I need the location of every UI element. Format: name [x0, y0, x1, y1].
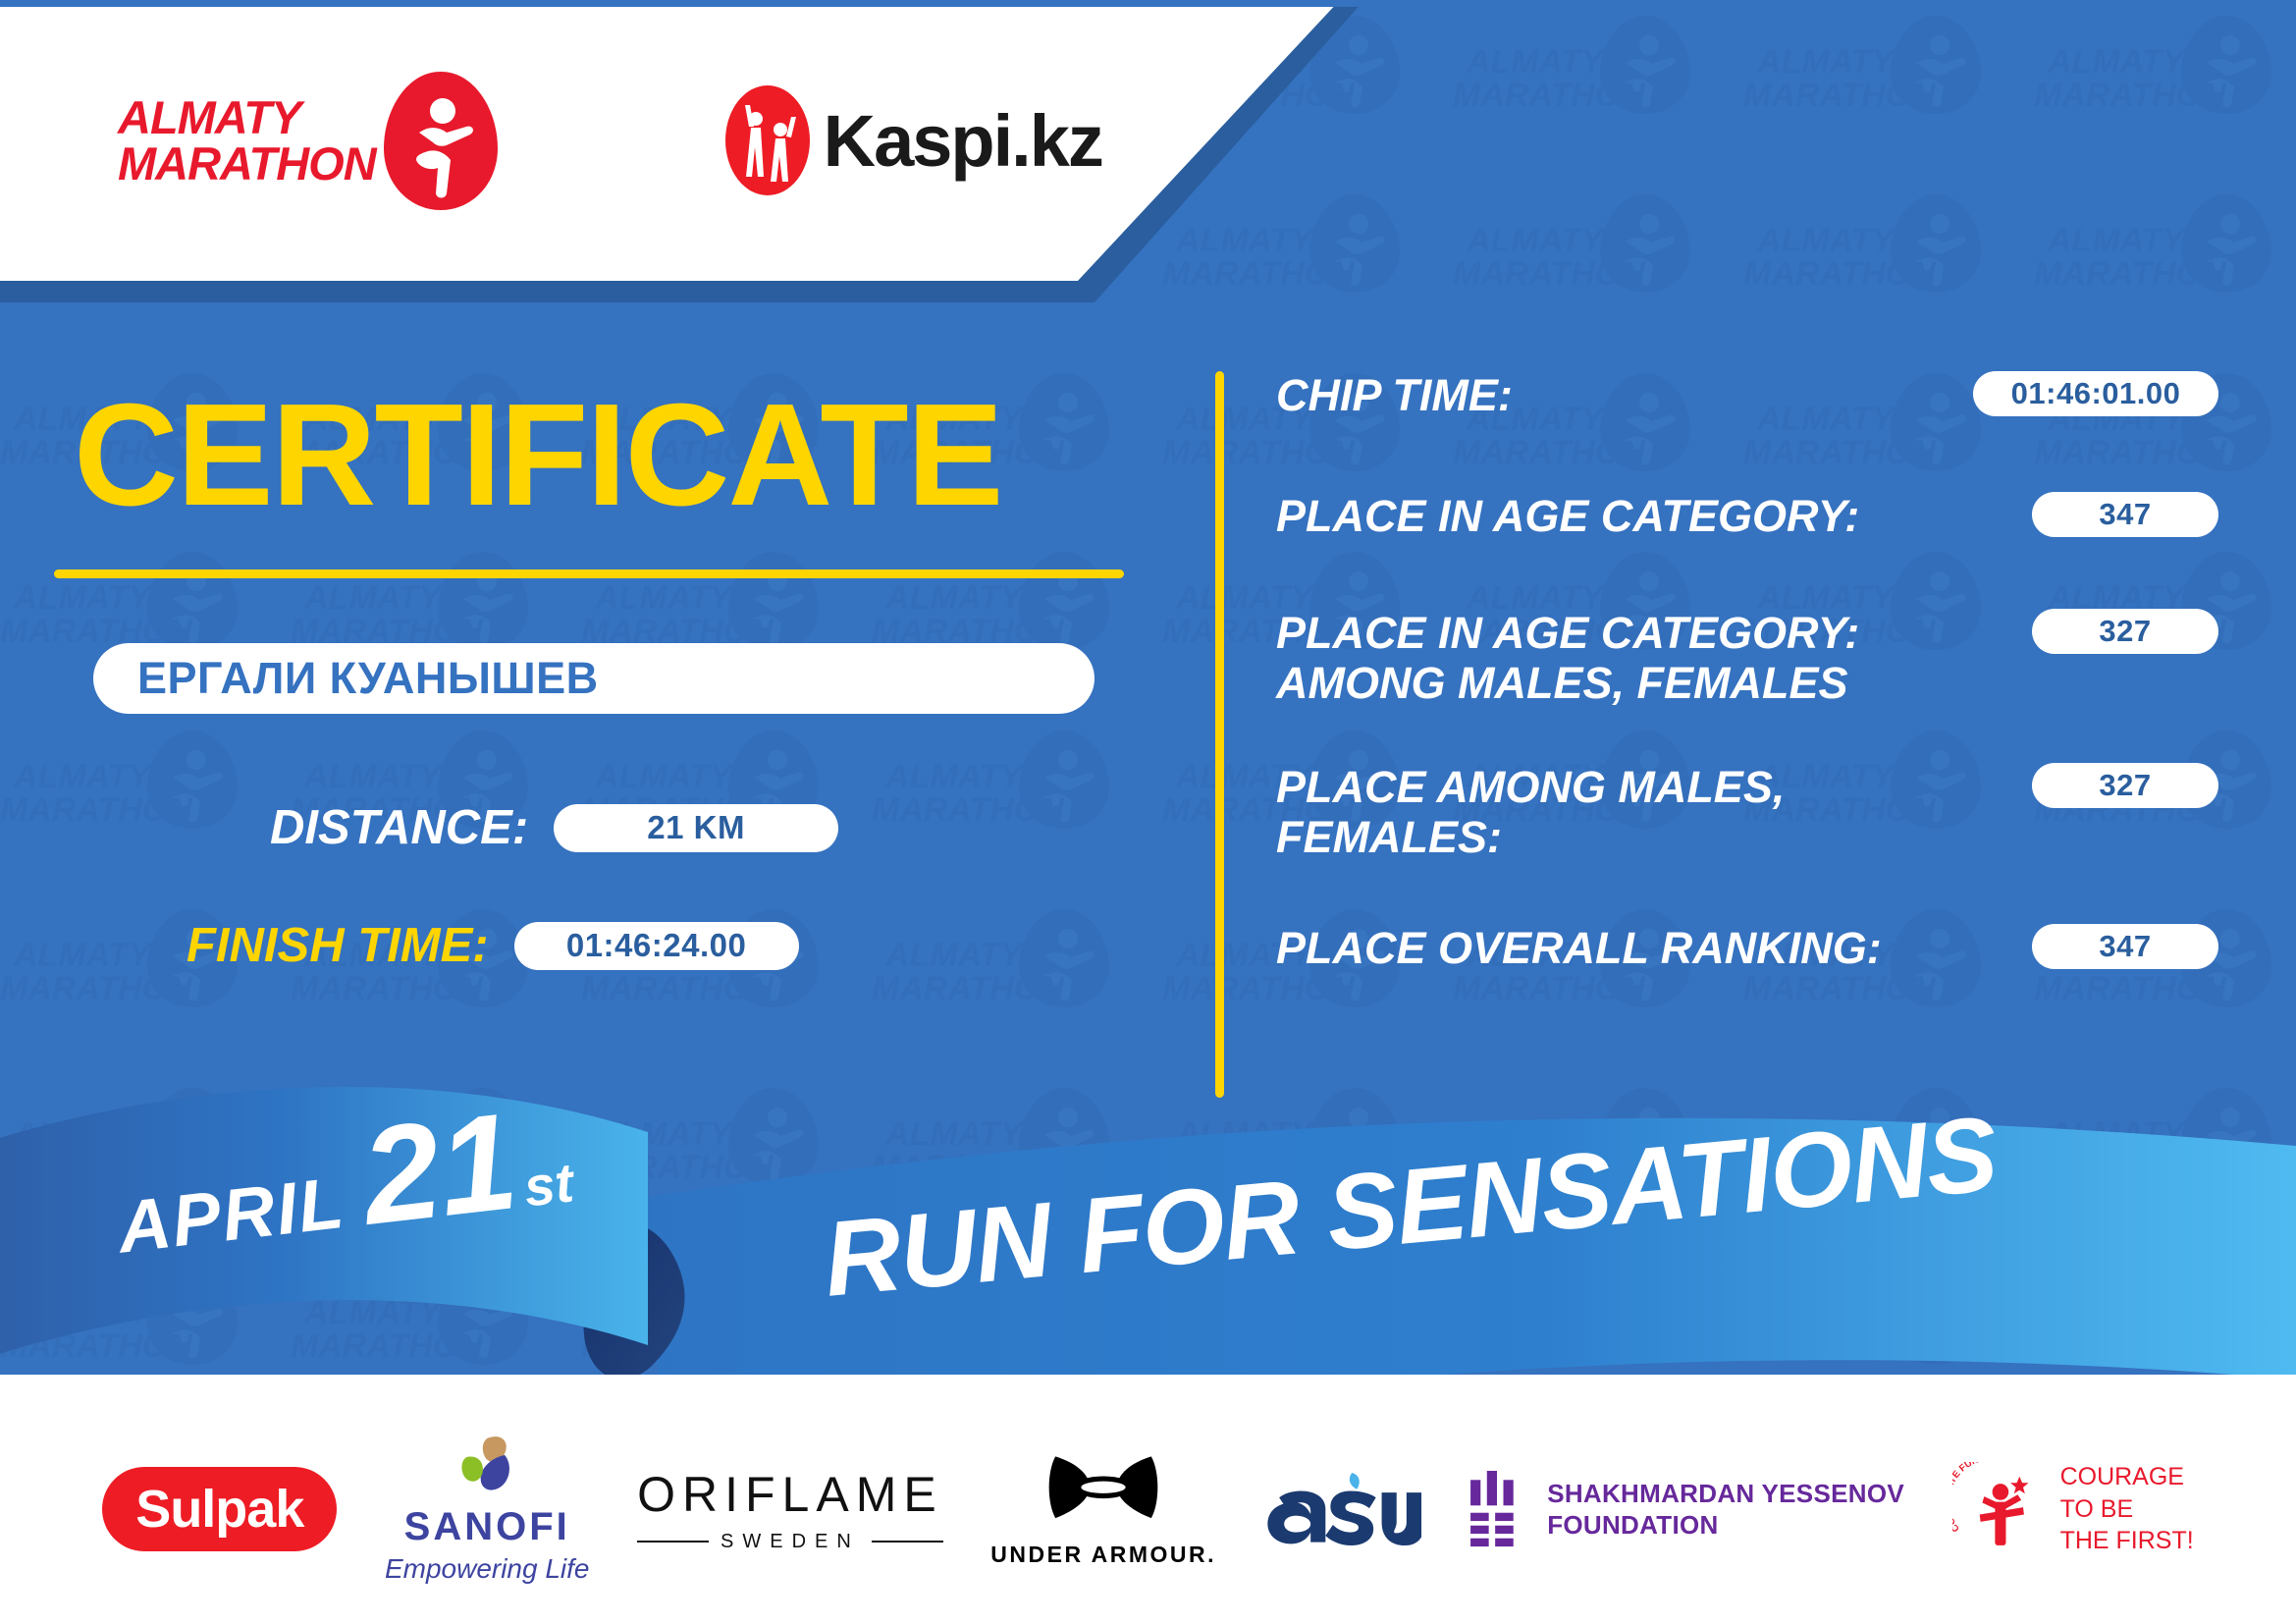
almaty-marathon-line1: ALMATY: [118, 94, 376, 140]
under-armour-wordmark: UNDER ARMOUR.: [990, 1542, 1216, 1568]
stat-row: PLACE OVERALL RANKING: 347: [1276, 924, 2218, 974]
yessenov-line1: SHAKHMARDAN YESSENOV: [1547, 1478, 1904, 1510]
yessenov-foundation-icon: [1468, 1471, 1525, 1547]
title-underline: [54, 569, 1124, 578]
stats-panel: CHIP TIME: 01:46:01.00 PLACE IN AGE CATE…: [1276, 371, 2218, 974]
kaspi-wordmark: Kaspi.kz: [824, 99, 1102, 183]
oriflame-wordmark: ORIFLAME: [637, 1466, 943, 1523]
distance-value: 21 KM: [554, 804, 838, 852]
stat-label: PLACE IN AGE CATEGORY: AMONG MALES, FEMA…: [1276, 609, 2032, 709]
stat-value: 327: [2032, 763, 2218, 808]
sponsor-logo-asu: [1264, 1471, 1421, 1547]
kaspi-person-icon: [725, 81, 810, 199]
yessenov-line2: FOUNDATION: [1547, 1509, 1904, 1542]
participant-name-value: ЕРГАЛИ КУАНЫШЕВ: [137, 653, 599, 704]
event-day: 21: [356, 1099, 522, 1239]
vertical-divider: [1215, 371, 1224, 1098]
svg-text:CORPORATE FUND: CORPORATE FUND: [1952, 1462, 1987, 1534]
sanofi-wordmark: SANOFI: [404, 1505, 570, 1549]
sponsor-logo-shakhmardan-yessenov-foundation: SHAKHMARDAN YESSENOV FOUNDATION: [1468, 1471, 1904, 1547]
oriflame-rule-right: [872, 1541, 943, 1543]
sponsor-logo-sanofi: SANOFI Empowering Life: [385, 1435, 590, 1585]
finish-time-row: FINISH TIME: 01:46:24.00: [187, 918, 799, 973]
stat-label: CHIP TIME:: [1276, 371, 1973, 421]
stat-label: PLACE AMONG MALES, FEMALES:: [1276, 763, 2032, 863]
almaty-marathon-runner-icon: [382, 70, 500, 212]
stat-label: PLACE IN AGE CATEGORY:: [1276, 492, 2032, 542]
oriflame-rule-left: [637, 1541, 709, 1543]
stat-row: PLACE AMONG MALES, FEMALES: 327: [1276, 763, 2218, 863]
stat-row: PLACE IN AGE CATEGORY: AMONG MALES, FEMA…: [1276, 609, 2218, 709]
finish-time-value: 01:46:24.00: [514, 922, 799, 970]
corporate-fund-line3: THE FIRST!: [2060, 1525, 2194, 1557]
distance-label: DISTANCE:: [270, 800, 528, 855]
page-title: CERTIFICATE: [74, 383, 1001, 528]
stat-row: CHIP TIME: 01:46:01.00: [1276, 371, 2218, 421]
sponsor-logos: Sulpak SANOFI Empowering Life ORIFLAME S…: [0, 1394, 2296, 1624]
stat-row: PLACE IN AGE CATEGORY: 347: [1276, 492, 2218, 542]
sulpak-wordmark: Sulpak: [135, 1479, 303, 1540]
almaty-marathon-logo: ALMATY MARATHON: [118, 70, 500, 212]
stat-value: 01:46:01.00: [1973, 371, 2218, 416]
stat-value: 327: [2032, 609, 2218, 654]
asu-wordmark-icon: [1264, 1471, 1421, 1547]
corporate-fund-line2: TO BE: [2060, 1493, 2194, 1526]
event-day-suffix: st: [520, 1150, 576, 1218]
header-logos: ALMATY MARATHON Kaspi.kz: [0, 0, 1178, 281]
corporate-fund-line1: COURAGE: [2060, 1461, 2194, 1493]
oriflame-tagline: SWEDEN: [709, 1531, 872, 1553]
sponsor-logo-sulpak: Sulpak: [102, 1467, 337, 1551]
stat-value: 347: [2032, 924, 2218, 969]
sponsor-logo-oriflame: ORIFLAME SWEDEN: [637, 1466, 943, 1553]
sanofi-tagline: Empowering Life: [385, 1553, 590, 1585]
corporate-fund-arc-text: CORPORATE FUND: [1952, 1462, 1987, 1534]
sponsor-logo-under-armour: UNDER ARMOUR.: [990, 1451, 1216, 1568]
participant-name-field: ЕРГАЛИ КУАНЫШЕВ: [93, 643, 1095, 714]
finish-time-label: FINISH TIME:: [187, 918, 489, 973]
kaspi-logo: Kaspi.kz: [725, 81, 1102, 199]
almaty-marathon-wordmark: ALMATY MARATHON: [118, 94, 376, 187]
top-accent-strip: [0, 0, 2296, 7]
under-armour-icon: [1043, 1451, 1163, 1534]
almaty-marathon-line2: MARATHON: [118, 140, 376, 187]
sponsor-logo-corporate-fund: CORPORATE FUND COURAGE TO BE THE FIRST!: [1952, 1461, 2194, 1557]
sanofi-bird-icon: [449, 1435, 525, 1501]
corporate-fund-icon: CORPORATE FUND: [1952, 1462, 2047, 1556]
distance-row: DISTANCE: 21 KM: [270, 800, 838, 855]
stat-label: PLACE OVERALL RANKING:: [1276, 924, 2032, 974]
stat-value: 347: [2032, 492, 2218, 537]
